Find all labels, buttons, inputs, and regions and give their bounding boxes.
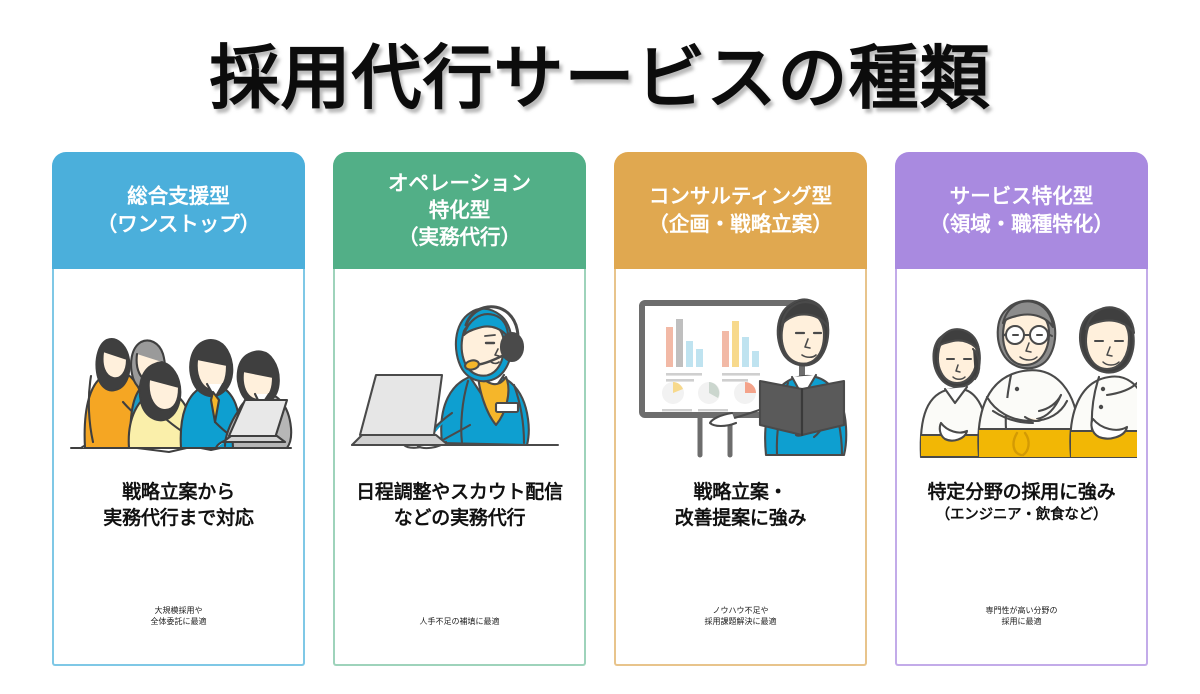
headline-line: 実務代行まで対応 bbox=[103, 505, 253, 531]
card-header-line: 総合支援型 bbox=[97, 183, 261, 210]
card-header-operation-specialized: オペレーション 特化型 （実務代行） bbox=[333, 152, 586, 269]
service-card-consulting[interactable]: コンサルティング型 （企画・戦略立案） bbox=[614, 152, 867, 666]
service-card-comprehensive-support[interactable]: 総合支援型 （ワンストップ） bbox=[52, 152, 305, 666]
card-header-comprehensive-support: 総合支援型 （ワンストップ） bbox=[52, 152, 305, 269]
card-header-line: オペレーション bbox=[388, 170, 531, 197]
card-header-service-specialized: サービス特化型 （領域・職種特化） bbox=[895, 152, 1148, 269]
team-meeting-illustration bbox=[54, 277, 303, 473]
card-headline-service-specialized: 特定分野の採用に強み （エンジニア・飲食など） bbox=[927, 479, 1115, 527]
card-note-comprehensive-support: 大規模採用や 全体委託に最適 bbox=[54, 605, 303, 628]
card-header-line: 特化型 bbox=[388, 197, 531, 224]
presentation-whiteboard-illustration bbox=[616, 277, 865, 473]
card-header-line: （企画・戦略立案） bbox=[648, 211, 833, 238]
headline-line: 改善提案に強み bbox=[675, 505, 807, 531]
note-line: 全体委託に最適 bbox=[54, 616, 303, 628]
card-headline-consulting: 戦略立案・ 改善提案に強み bbox=[675, 479, 807, 531]
note-line: 人手不足の補填に最適 bbox=[335, 616, 584, 628]
headline-line: 戦略立案・ bbox=[675, 479, 807, 505]
card-headline-operation-specialized: 日程調整やスカウト配信 などの実務代行 bbox=[356, 479, 563, 531]
card-note-service-specialized: 専門性が高い分野の 採用に最適 bbox=[897, 605, 1146, 628]
card-body-operation-specialized: 日程調整やスカウト配信 などの実務代行 人手不足の補填に最適 bbox=[333, 269, 586, 666]
card-note-operation-specialized: 人手不足の補填に最適 bbox=[335, 616, 584, 628]
card-body-comprehensive-support: 戦略立案から 実務代行まで対応 大規模採用や 全体委託に最適 bbox=[52, 269, 305, 666]
card-note-consulting: ノウハウ不足や 採用課題解決に最適 bbox=[616, 605, 865, 628]
page-title: 採用代行サービスの種類 bbox=[0, 22, 1200, 123]
note-line: 採用に最適 bbox=[897, 616, 1146, 628]
headline-line: 戦略立案から bbox=[103, 479, 253, 505]
restaurant-staff-illustration bbox=[897, 277, 1146, 473]
call-center-operator-illustration bbox=[335, 277, 584, 473]
note-line: 専門性が高い分野の bbox=[897, 605, 1146, 617]
note-line: 採用課題解決に最適 bbox=[616, 616, 865, 628]
card-header-line: サービス特化型 bbox=[929, 183, 1114, 210]
card-header-line: （実務代行） bbox=[388, 224, 531, 251]
slide-canvas: 採用代行サービスの種類 総合支援型 （ワンストップ） bbox=[0, 0, 1200, 694]
service-card-service-specialized[interactable]: サービス特化型 （領域・職種特化） bbox=[895, 152, 1148, 666]
service-type-card-row: 総合支援型 （ワンストップ） bbox=[52, 152, 1148, 666]
card-header-consulting: コンサルティング型 （企画・戦略立案） bbox=[614, 152, 867, 269]
note-line: ノウハウ不足や bbox=[616, 605, 865, 617]
headline-line: 特定分野の採用に強み bbox=[927, 479, 1115, 505]
card-body-consulting: 戦略立案・ 改善提案に強み ノウハウ不足や 採用課題解決に最適 bbox=[614, 269, 867, 666]
card-body-service-specialized: 特定分野の採用に強み （エンジニア・飲食など） 専門性が高い分野の 採用に最適 bbox=[895, 269, 1148, 666]
card-headline-comprehensive-support: 戦略立案から 実務代行まで対応 bbox=[103, 479, 253, 531]
service-card-operation-specialized[interactable]: オペレーション 特化型 （実務代行） bbox=[333, 152, 586, 666]
card-header-line: コンサルティング型 bbox=[648, 183, 833, 210]
headline-subline: （エンジニア・飲食など） bbox=[927, 505, 1115, 527]
headline-line: などの実務代行 bbox=[356, 505, 563, 531]
card-header-line: （ワンストップ） bbox=[97, 211, 261, 238]
card-header-line: （領域・職種特化） bbox=[929, 211, 1114, 238]
note-line: 大規模採用や bbox=[54, 605, 303, 617]
headline-line: 日程調整やスカウト配信 bbox=[356, 479, 563, 505]
